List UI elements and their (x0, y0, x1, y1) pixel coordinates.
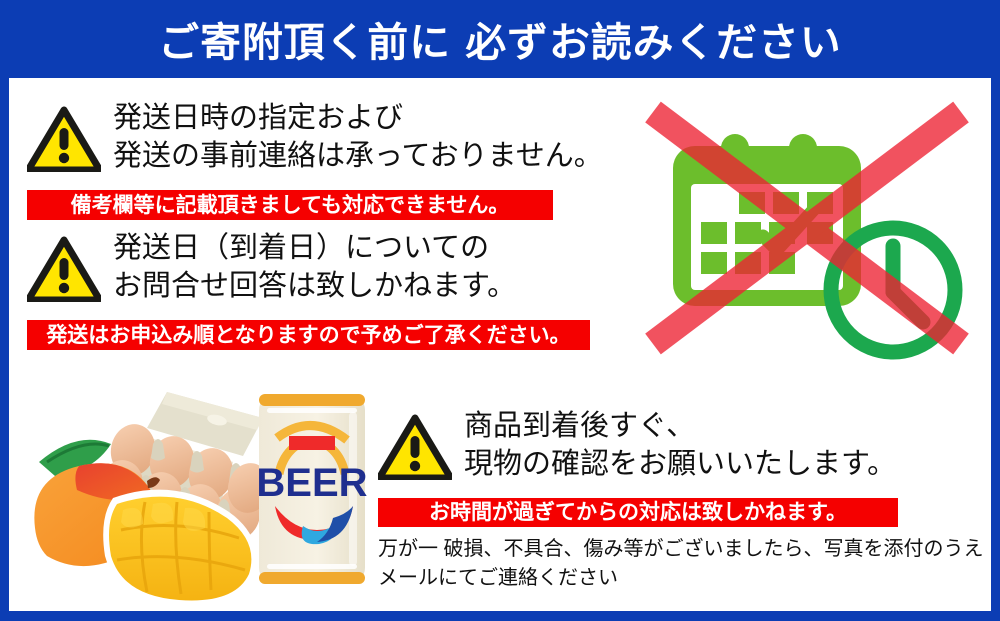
page-title-part2: 必ずお読みください (465, 21, 841, 65)
warning-block-1-line-2: 発送の事前連絡は承っておりません。 (113, 138, 603, 176)
beer-can-label: BEER (256, 461, 367, 505)
poster-header: ご寄附頂く前に必ずお読みください (0, 0, 1000, 78)
content-panel: 発送日時の指定および 発送の事前連絡は承っておりません。 備考欄等に記載頂きまし… (9, 78, 991, 611)
warning-block-3: 商品到着後すぐ、 現物の確認をお願いいたします。 (378, 408, 896, 483)
beer-can-icon: BEER (256, 394, 367, 584)
warning-block-2: 発送日（到着日）についての お問合せ回答は致しかねます。 (27, 230, 516, 305)
warning-block-3-line-1: 商品到着後すぐ、 (464, 408, 896, 446)
warning-block-1-text: 発送日時の指定および 発送の事前連絡は承っておりません。 (113, 100, 603, 175)
warning-triangle-icon (27, 236, 101, 302)
warning-triangle-icon (378, 414, 452, 480)
no-date-specification-illustration (631, 94, 983, 394)
warning-block-3-note-line-1: 万が一 破損、不具合、傷み等がございましたら、写真を添付のうえ (378, 535, 984, 564)
page-title: ご寄附頂く前に必ずお読みください (158, 10, 841, 68)
warning-block-2-line-2: お問合せ回答は致しかねます。 (113, 268, 516, 306)
warning-block-2-line-1: 発送日（到着日）についての (113, 230, 516, 268)
warning-block-2-banner: 発送はお申込み順となりますので予めご了承ください。 (27, 320, 590, 350)
product-goods-illustration: BEER (17, 378, 367, 603)
warning-triangle-icon (27, 106, 101, 172)
warning-block-3-text: 商品到着後すぐ、 現物の確認をお願いいたします。 (464, 408, 896, 483)
warning-block-3-note: 万が一 破損、不具合、傷み等がございましたら、写真を添付のうえ メールにてご連絡… (378, 535, 984, 593)
page-title-part1: ご寄附頂く前に (158, 21, 451, 65)
warning-block-1-line-1: 発送日時の指定および (113, 100, 603, 138)
warning-block-3-note-line-2: メールにてご連絡ください (378, 564, 984, 593)
warning-block-2-text: 発送日（到着日）についての お問合せ回答は致しかねます。 (113, 230, 516, 305)
warning-block-3-banner: お時間が過ぎてからの対応は致しかねます。 (378, 498, 898, 527)
warning-block-1: 発送日時の指定および 発送の事前連絡は承っておりません。 (27, 100, 603, 175)
warning-block-3-line-2: 現物の確認をお願いいたします。 (464, 446, 896, 484)
warning-block-1-banner: 備考欄等に記載頂きましても対応できません。 (27, 190, 553, 220)
poster-root: ご寄附頂く前に必ずお読みください (0, 0, 1000, 621)
